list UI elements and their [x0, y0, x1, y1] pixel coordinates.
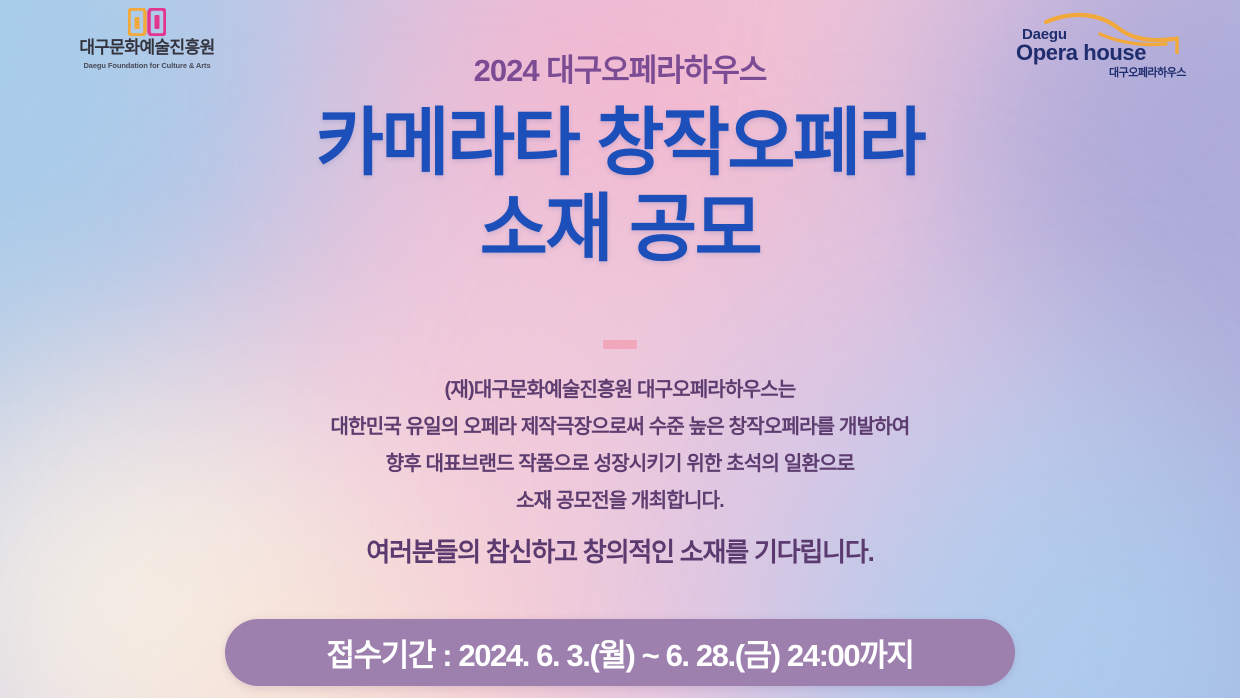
- page-title-line-2: 소재 공모: [0, 186, 1240, 272]
- body-highlight: 여러분들의 참신하고 창의적인 소재를 기다립니다.: [0, 532, 1240, 569]
- poster-content: 대구문화예술진흥원 Daegu Foundation for Culture &…: [0, 0, 1240, 698]
- page-title: 카메라타 창작오페라 소재 공모: [0, 100, 1240, 272]
- body-line-4: 소재 공모전을 개최합니다.: [0, 483, 1240, 520]
- body-line-3: 향후 대표브랜드 작품으로 성장시키기 위한 초석의 일환으로: [0, 446, 1240, 483]
- poster-canvas: 대구문화예술진흥원 Daegu Foundation for Culture &…: [0, 0, 1240, 698]
- section-divider: [603, 340, 637, 349]
- page-title-line-1: 카메라타 창작오페라: [0, 100, 1240, 186]
- body-line-2: 대한민국 유일의 오페라 제작극장으로써 수준 높은 창작오페라를 개발하여: [0, 409, 1240, 446]
- eyebrow-title: 2024 대구오페라하우스: [0, 45, 1240, 90]
- daegu-foundation-mark-icon: [128, 8, 166, 36]
- body-line-1: (재)대구문화예술진흥원 대구오페라하우스는: [0, 372, 1240, 409]
- application-period-text: 접수기간 : 2024. 6. 3.(월) ~ 6. 28.(금) 24:00까…: [327, 630, 914, 675]
- application-period-banner: 접수기간 : 2024. 6. 3.(월) ~ 6. 28.(금) 24:00까…: [225, 619, 1015, 686]
- body-paragraph: (재)대구문화예술진흥원 대구오페라하우스는 대한민국 유일의 오페라 제작극장…: [0, 372, 1240, 520]
